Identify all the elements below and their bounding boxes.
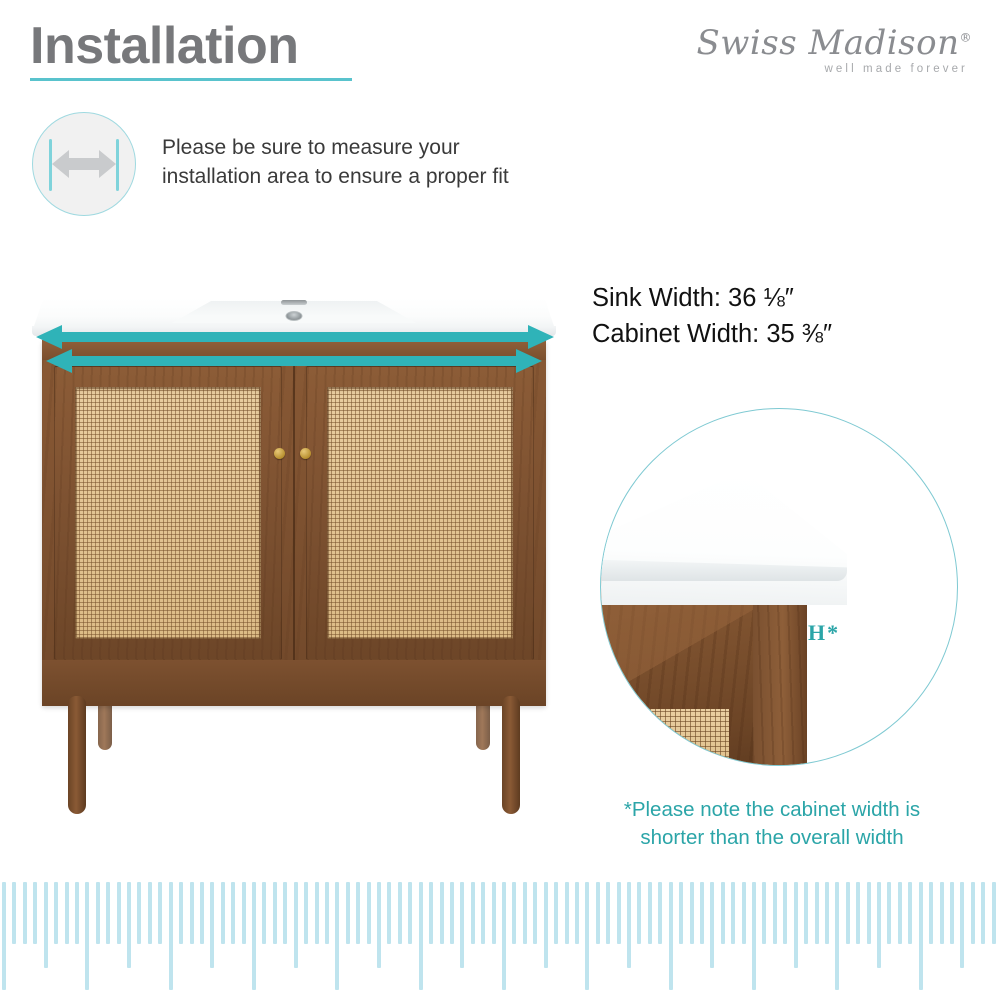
ruler-tick xyxy=(606,882,610,944)
ruler-tick xyxy=(523,882,527,944)
cane-panel-right xyxy=(327,387,513,639)
ruler-tick xyxy=(512,882,516,944)
ruler-tick xyxy=(856,882,860,944)
measure-bar-right-icon xyxy=(116,139,119,191)
ruler-tick xyxy=(106,882,110,944)
ruler-tick xyxy=(721,882,725,944)
ruler-tick xyxy=(440,882,444,944)
footnote-line-2: shorter than the overall width xyxy=(592,824,952,852)
ruler-tick xyxy=(471,882,475,944)
cabinet-door-left xyxy=(54,366,282,660)
ruler-tick xyxy=(929,882,933,944)
door-center-gap xyxy=(293,366,295,660)
ruler-tick xyxy=(783,882,787,944)
ruler-tick xyxy=(221,882,225,944)
ruler-tick xyxy=(127,882,131,968)
cane-panel-left xyxy=(75,387,261,639)
ruler-tick xyxy=(408,882,412,944)
detail-cane-panel xyxy=(625,709,729,766)
ruler-tick xyxy=(481,882,485,944)
ruler-tick xyxy=(283,882,287,944)
ruler-tick xyxy=(367,882,371,944)
ruler-tick xyxy=(544,882,548,968)
ruler-tick xyxy=(804,882,808,944)
ruler-tick xyxy=(658,882,662,944)
cabinet-width-arrow xyxy=(46,348,542,374)
ruler-tick xyxy=(460,882,464,968)
ruler-tick xyxy=(210,882,214,968)
ruler-tick xyxy=(419,882,423,990)
ruler-tick xyxy=(75,882,79,944)
footnote-line-1: *Please note the cabinet width is xyxy=(592,796,952,824)
ruler-tick xyxy=(992,882,996,944)
ruler-tick xyxy=(179,882,183,944)
ruler-tick xyxy=(960,882,964,968)
ruler-tick xyxy=(887,882,891,944)
ruler-tick xyxy=(85,882,89,990)
ruler-tick xyxy=(575,882,579,944)
faucet-hole xyxy=(281,300,307,305)
ruler-tick xyxy=(377,882,381,968)
ruler-tick xyxy=(950,882,954,944)
ruler-tick xyxy=(752,882,756,990)
ruler-tick xyxy=(825,882,829,944)
ruler-tick xyxy=(346,882,350,944)
ruler-tick xyxy=(669,882,673,990)
brand-logo: Swiss Madison® well made forever xyxy=(672,26,972,75)
ruler-tick xyxy=(429,882,433,944)
ruler-tick xyxy=(231,882,235,944)
ruler-tick xyxy=(835,882,839,990)
ruler-tick xyxy=(2,882,6,990)
ruler-tick xyxy=(867,882,871,944)
decorative-ruler xyxy=(0,882,1000,994)
ruler-tick xyxy=(637,882,641,944)
ruler-tick xyxy=(23,882,27,944)
ruler-tick xyxy=(565,882,569,944)
installation-page: Installation Swiss Madison® well made fo… xyxy=(0,0,1000,1000)
ruler-tick xyxy=(554,882,558,944)
ruler-tick xyxy=(450,882,454,944)
title-underline xyxy=(30,78,352,81)
ruler-tick xyxy=(898,882,902,944)
ruler-tick xyxy=(44,882,48,968)
ruler-tick xyxy=(648,882,652,944)
ruler-tick xyxy=(700,882,704,944)
ruler-tick xyxy=(273,882,277,944)
cabinet-width-footnote: *Please note the cabinet width is shorte… xyxy=(592,796,952,852)
sink-width-arrow xyxy=(36,324,554,350)
sink-width-label: Sink Width: 36 ⅛″ xyxy=(592,280,832,316)
vanity-leg-front-right xyxy=(502,696,520,814)
ruler-tick xyxy=(690,882,694,944)
measure-instruction-text: Please be sure to measure your installat… xyxy=(162,134,562,192)
ruler-tick xyxy=(762,882,766,944)
ruler-tick xyxy=(12,882,16,944)
ruler-tick xyxy=(731,882,735,944)
ruler-tick xyxy=(54,882,58,944)
ruler-tick xyxy=(617,882,621,944)
ruler-tick xyxy=(200,882,204,944)
ruler-tick xyxy=(533,882,537,944)
ruler-tick xyxy=(315,882,319,944)
cabinet-width-label: Cabinet Width: 35 ⅜″ xyxy=(592,316,832,352)
double-arrow-measure-icon xyxy=(32,112,136,216)
vanity-leg-front-left xyxy=(68,696,86,814)
ruler-tick xyxy=(627,882,631,968)
ruler-tick xyxy=(908,882,912,944)
cabinet-knob-right xyxy=(300,448,311,459)
ruler-tick xyxy=(815,882,819,944)
ruler-tick xyxy=(742,882,746,944)
detail-zoom-circle xyxy=(600,408,958,766)
overhang-marker-label: H* xyxy=(808,620,840,646)
brand-tagline: well made forever xyxy=(672,63,968,75)
ruler-tick xyxy=(252,882,256,990)
ruler-tick xyxy=(877,882,881,968)
ruler-tick xyxy=(33,882,37,944)
dimension-labels: Sink Width: 36 ⅛″ Cabinet Width: 35 ⅜″ xyxy=(592,280,832,352)
ruler-tick xyxy=(117,882,121,944)
brand-name: Swiss Madison® xyxy=(672,26,972,60)
ruler-tick xyxy=(190,882,194,944)
cabinet-bottom-rail xyxy=(42,660,546,706)
ruler-tick xyxy=(356,882,360,944)
ruler-tick xyxy=(65,882,69,944)
ruler-tick xyxy=(387,882,391,944)
detail-sink-top xyxy=(600,471,847,605)
ruler-tick xyxy=(148,882,152,944)
ruler-tick xyxy=(919,882,923,990)
ruler-tick xyxy=(335,882,339,990)
ruler-tick xyxy=(981,882,985,944)
double-arrow-icon xyxy=(52,147,116,181)
ruler-tick xyxy=(262,882,266,944)
ruler-tick xyxy=(304,882,308,944)
ruler-tick xyxy=(679,882,683,944)
ruler-tick xyxy=(492,882,496,944)
cabinet-door-right xyxy=(306,366,534,660)
vanity-cabinet-body xyxy=(42,340,546,706)
registered-mark-icon: ® xyxy=(960,31,973,45)
ruler-tick xyxy=(794,882,798,968)
ruler-tick xyxy=(137,882,141,944)
ruler-tick xyxy=(773,882,777,944)
ruler-tick xyxy=(398,882,402,944)
cabinet-knob-left xyxy=(274,448,285,459)
ruler-tick xyxy=(325,882,329,944)
sink-drain-icon xyxy=(286,311,303,321)
ruler-tick xyxy=(940,882,944,944)
page-header: Installation xyxy=(30,20,352,81)
ruler-tick xyxy=(502,882,506,990)
ruler-tick xyxy=(158,882,162,944)
ruler-tick xyxy=(242,882,246,944)
detail-cabinet-stile xyxy=(753,577,807,766)
ruler-tick xyxy=(596,882,600,944)
ruler-tick xyxy=(846,882,850,944)
ruler-tick xyxy=(971,882,975,944)
ruler-tick xyxy=(294,882,298,968)
vanity-illustration xyxy=(16,292,572,812)
ruler-tick xyxy=(96,882,100,944)
ruler-tick xyxy=(169,882,173,990)
ruler-tick xyxy=(585,882,589,990)
brand-name-text: Swiss Madison xyxy=(696,23,959,63)
ruler-tick xyxy=(710,882,714,968)
page-title: Installation xyxy=(30,20,352,72)
